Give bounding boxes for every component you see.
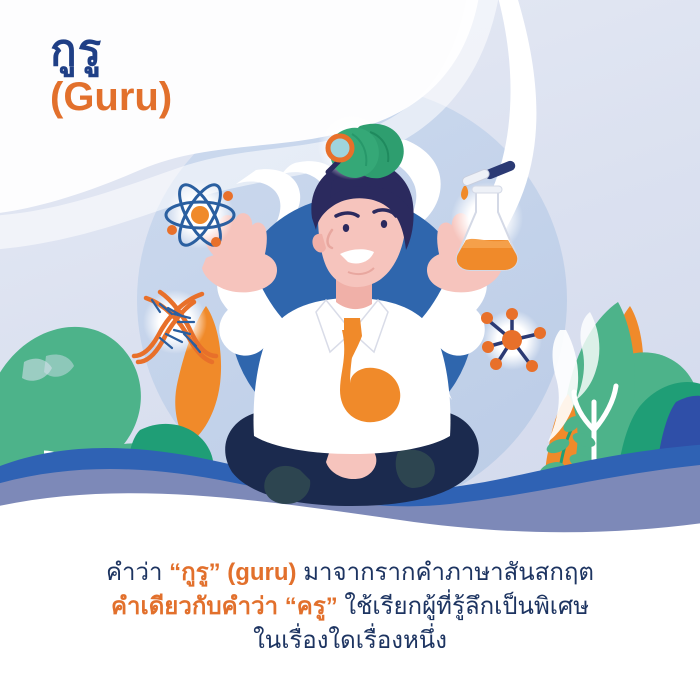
eye-right <box>381 220 387 228</box>
caption-line1-prefix: คำว่า <box>106 559 169 586</box>
caption-line-3: ในเรื่องใดเรื่องหนึ่ง <box>0 624 700 658</box>
title-block: กูรู (Guru) <box>50 28 172 118</box>
caption-block: คำว่า “กูรู” (guru) มาจากรากคำภาษาสันสกฤ… <box>0 556 700 658</box>
dna-helix-icon <box>134 290 216 362</box>
caption-line-2: คำเดียวกับคำว่า “ครู” ใช้เรียกผู้ที่รู้ล… <box>0 590 700 624</box>
flask-dropper-icon <box>451 159 523 270</box>
page-title-thai: กูรู <box>50 28 172 74</box>
molecule-icon <box>481 308 546 372</box>
magnifier-leaf-icon <box>318 112 404 180</box>
caption-line-1: คำว่า “กูรู” (guru) มาจากรากคำภาษาสันสกฤ… <box>0 556 700 590</box>
caption-line1-suffix: มาจากรากคำภาษาสันสกฤต <box>297 559 594 586</box>
caption-line2-suffix: ใช้เรียกผู้ที่รู้ลึกเป็นพิเศษ <box>338 593 589 620</box>
caption-line2-highlight: คำเดียวกับคำว่า “ครู” <box>111 593 338 620</box>
page-title-latin: (Guru) <box>50 76 172 118</box>
eye-left <box>343 224 349 232</box>
caption-line1-highlight: “กูรู” (guru) <box>169 559 296 586</box>
poster-canvas: กูรู (Guru) คำว่า “กูรู” (guru) มาจากราก… <box>0 0 700 700</box>
